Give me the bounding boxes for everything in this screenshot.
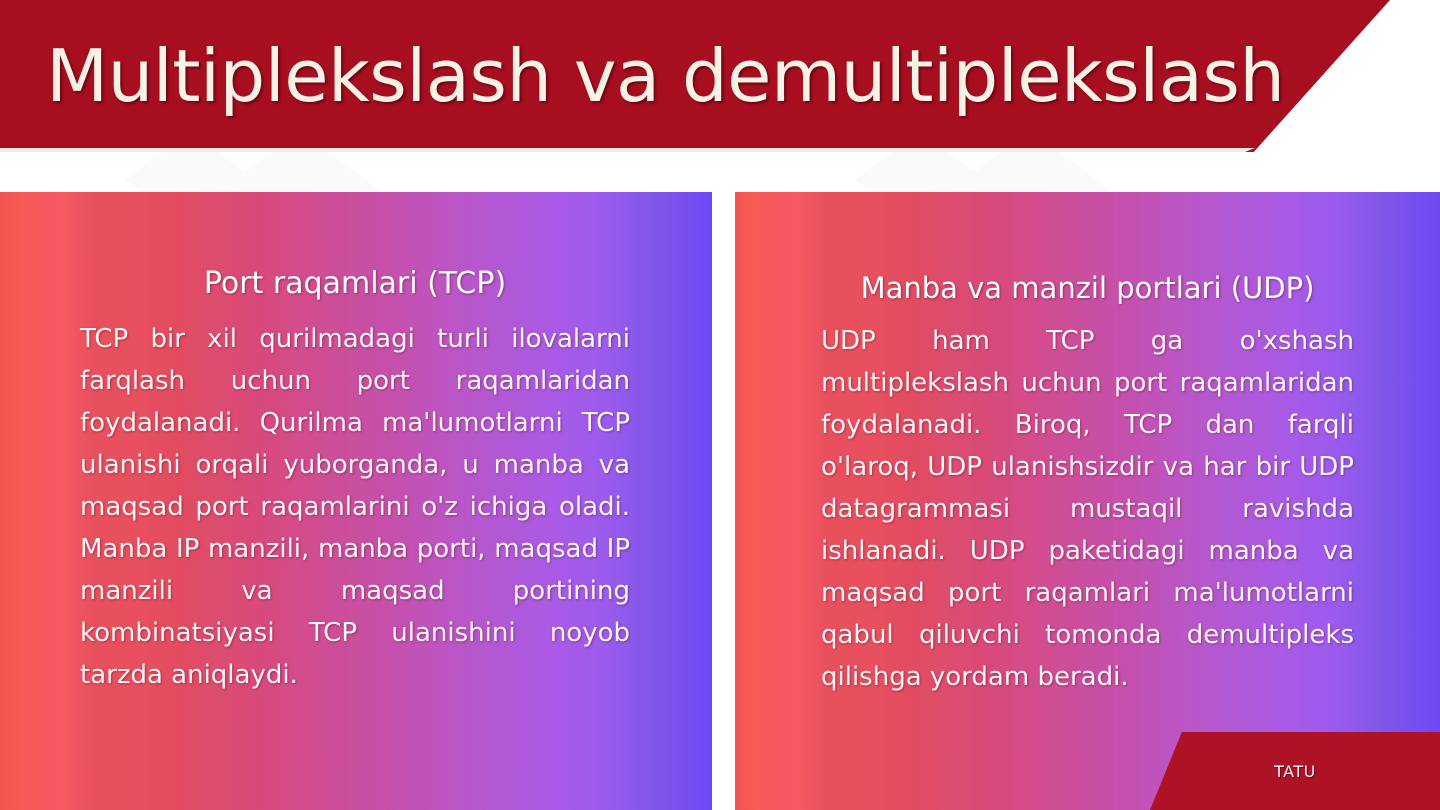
panel-udp-body: UDP ham TCP ga o'xshash multiplekslash u… [821,320,1354,698]
page-title: Multiplekslash va demultiplekslash [46,26,1284,126]
panel-tcp: Port raqamlari (TCP) TCP bir xil qurilma… [0,192,712,810]
tatu-badge-label: TATU [1150,732,1440,810]
slide-canvas: Port raqamlari (TCP) TCP bir xil qurilma… [0,0,1440,810]
panel-udp-heading: Manba va manzil portlari (UDP) [821,268,1354,308]
panel-tcp-body: TCP bir xil qurilmadagi turli ilovalarni… [80,318,630,696]
panel-udp-content: Manba va manzil portlari (UDP) UDP ham T… [735,268,1440,810]
title-underline-rule [0,148,1255,152]
panel-udp: Manba va manzil portlari (UDP) UDP ham T… [735,192,1440,810]
panel-tcp-content: Port raqamlari (TCP) TCP bir xil qurilma… [0,264,712,810]
panel-tcp-heading: Port raqamlari (TCP) [80,264,630,304]
